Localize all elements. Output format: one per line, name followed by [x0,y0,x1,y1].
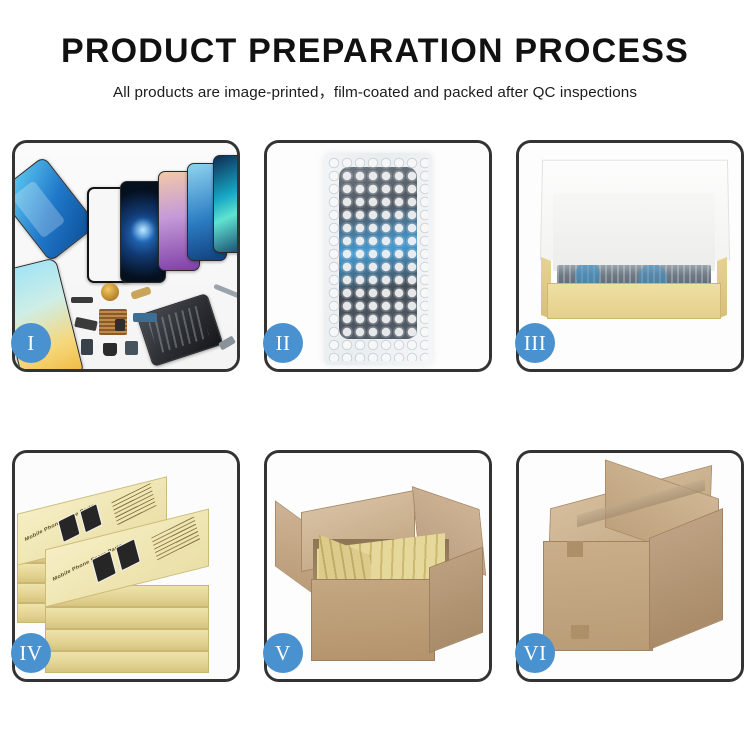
process-steps-grid: I II III [12,140,740,682]
retail-box-icon [45,607,209,629]
box-front-icon [547,283,721,319]
sim-tray-part-icon [81,339,93,355]
box-artwork-text-lines [151,516,200,563]
carton-tab-icon [567,541,583,557]
retail-box-icon [45,629,209,651]
step-badge-3: III [515,323,555,363]
step-badge-1: I [11,323,51,363]
speaker-part-icon [71,297,93,303]
camera-module-part-icon [103,343,117,356]
step-badge-6: VI [515,633,555,673]
process-step-panel-2[interactable]: II [264,140,492,372]
step-badge-5: V [263,633,303,673]
bubble-highlight-icon [328,157,428,361]
process-step-panel-5[interactable]: V [264,450,492,682]
retail-box-icon [45,651,209,673]
phone-display-icon [213,155,237,253]
page-title: PRODUCT PREPARATION PROCESS [0,34,750,70]
process-step-panel-6[interactable]: VI [516,450,744,682]
flex-cable-part-icon [133,313,157,322]
process-step-panel-3[interactable]: III [516,140,744,372]
step-badge-4: IV [11,633,51,673]
page-header: PRODUCT PREPARATION PROCESS All products… [0,0,750,102]
connector-part-icon [125,341,138,355]
button-part-icon [115,319,125,331]
foam-lining-icon [553,193,715,271]
step-badge-2: II [263,323,303,363]
copper-coil-part-icon [101,283,119,301]
box-artwork-text-lines [111,483,156,526]
carton-tab-icon [571,625,589,639]
carton-front-icon [543,541,653,651]
process-step-panel-4[interactable]: Mobile Phone Spare Parts Mobile Phone Sp… [12,450,240,682]
process-step-panel-1[interactable]: I [12,140,240,372]
page-subtitle: All products are image-printed，film-coat… [0,80,750,102]
carton-front-icon [311,579,435,661]
